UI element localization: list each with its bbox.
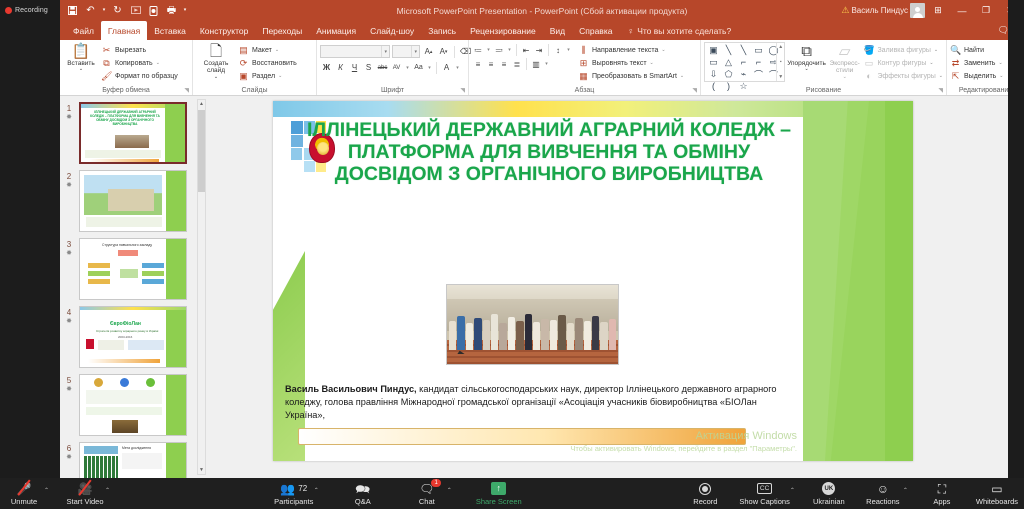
apps-icon: ⛶ [938, 481, 946, 496]
shape-effects-label: Эффекты фигуры [877, 73, 935, 80]
screen-root: Recording ↶ ▾ ↻ 🖶 ▾ Microsoft PowerPoint… [0, 0, 1024, 509]
thumbnail-number: 4 [67, 308, 71, 318]
record-dot-icon [5, 7, 12, 14]
shape-star-icon[interactable]: ☆ [736, 80, 751, 92]
text-direction-caret-icon[interactable]: ⌄ [661, 47, 665, 53]
tab-help[interactable]: Справка [572, 21, 619, 40]
thumbnail-item-2[interactable]: 2 ✸ [60, 167, 208, 235]
reactions-button[interactable]: ☺ Reactions [863, 481, 903, 506]
tab-view[interactable]: Вид [543, 21, 572, 40]
shapes-scroll-up-icon[interactable]: ▲ [778, 44, 783, 50]
section-caret-icon[interactable]: ⌄ [278, 73, 282, 79]
find-label: Найти [964, 47, 984, 54]
thumbnail-item-4[interactable]: 4 ✸ ЄвроФіоЛан Стратегія розвитку аграрн… [60, 303, 208, 371]
shadow-button[interactable]: S [362, 61, 375, 74]
section-label: Раздел [252, 73, 275, 80]
paragraph-label-text: Абзац [575, 87, 595, 94]
photo-crowd [449, 309, 616, 350]
thumbnail-preview-6[interactable]: Мета дослідження [79, 442, 187, 478]
tab-record[interactable]: Запись [421, 21, 463, 40]
restore-button[interactable]: ❐ [975, 1, 997, 20]
thumbs-scroll-thumb[interactable] [198, 110, 205, 192]
paragraph-row-2: ≡ ≡ ≡ ≣ ▥ ▾ [472, 58, 572, 70]
replace-button[interactable]: ⇄ Заменить ⌄ [950, 57, 1004, 69]
layout-icon: ▤ [238, 45, 249, 56]
reset-label: Восстановить [252, 60, 297, 67]
editing-label-text: Редактирование [959, 87, 1012, 94]
font-separator-2 [436, 62, 437, 74]
shape-outline-caret-icon[interactable]: ⌄ [929, 60, 933, 66]
thumbnail-preview-5[interactable] [79, 374, 187, 436]
select-label: Выделить [964, 73, 996, 80]
smartart-icon: ▦ [578, 71, 589, 82]
windows-activation-watermark: Активация Windows Чтобы активировать Win… [570, 430, 797, 453]
paste-icon: 📋 [72, 44, 91, 60]
increase-indent-button[interactable]: ⇥ [533, 44, 545, 56]
shapes-gallery[interactable]: ▣ ╲ ╲ ▭ ◯ ▭ △ ⌐ ⌐ ⇨ ⇩ ⬠ ⌁ ⌒ ⌒ [704, 42, 785, 82]
shrink-font-button[interactable]: A▾ [437, 45, 450, 58]
align-text-label: Выровнять текст [592, 60, 647, 67]
arrange-button[interactable]: ⧉ Упорядочить ⌄ [787, 42, 826, 73]
arrange-caret-icon[interactable]: ⌄ [804, 67, 808, 73]
tab-transitions[interactable]: Переходы [255, 21, 309, 40]
para-separator [516, 44, 517, 56]
bullets-caret-icon[interactable]: ▾ [485, 44, 492, 56]
grow-font-button[interactable]: A▴ [422, 45, 435, 58]
thumbnail-preview-4[interactable]: ЄвроФіоЛан Стратегія розвитку аграрного … [79, 306, 187, 368]
thumbs-scroll-down-icon[interactable]: ▼ [198, 467, 205, 473]
smartart-caret-icon[interactable]: ⌄ [680, 73, 684, 79]
align-right-button[interactable]: ≡ [498, 58, 510, 70]
audio-options-caret-icon[interactable]: ⌃ [44, 487, 49, 494]
share-screen-label: Share Screen [476, 497, 522, 506]
animation-star-icon[interactable]: ✸ [66, 114, 72, 122]
shape-right-brace-icon[interactable]: ) [721, 80, 736, 92]
layout-label: Макет [252, 47, 272, 54]
shape-line-icon[interactable]: ╲ [721, 44, 736, 56]
font-color-button[interactable]: A [440, 61, 453, 74]
unmute-button[interactable]: 🎤 Unmute [4, 481, 44, 506]
find-button[interactable]: 🔍 Найти [950, 44, 1004, 56]
reactions-icon: ☺ [877, 481, 889, 496]
record-button[interactable]: Record [685, 481, 725, 506]
zoom-toolbar-center: 👥72 Participants ⌃ 🗪 Q&A 🗨1 Chat ⌃ ↑ Sha… [110, 481, 685, 506]
copy-label: Копировать [115, 60, 153, 67]
bold-button[interactable]: Ж [320, 61, 333, 74]
font-dialog-launcher[interactable]: ◥ [460, 87, 465, 94]
show-captions-button[interactable]: CC Show Captions [739, 481, 789, 506]
text-direction-label: Направление текста [592, 47, 658, 54]
thumbnail-preview-3[interactable]: Структура навчального закладу [79, 238, 187, 300]
ribbon-group-drawing: ▣ ╲ ╲ ▭ ◯ ▭ △ ⌐ ⌐ ⇨ ⇩ ⬠ ⌁ ⌒ ⌒ [700, 40, 946, 95]
slide-body-bold: Василь Васильович Пиндус, [285, 384, 417, 394]
ribbon-group-paragraph: ≔ ▾ ≕ ▾ ⇤ ⇥ ↕ ▾ ≡ [468, 40, 700, 95]
quick-styles-button[interactable]: ▱ Экспресс-стили ⌄ [828, 42, 862, 81]
character-spacing-caret-icon[interactable]: ▾ [404, 61, 411, 74]
animation-star-icon[interactable]: ✸ [66, 386, 72, 394]
record-circle-icon [699, 481, 711, 496]
tab-file[interactable]: Файл [66, 21, 101, 40]
ribbon-group-clipboard: 📋 Вставить ⌄ ✂ Вырезать ⧉ Копировать ⌄ [60, 40, 192, 95]
decrease-indent-button[interactable]: ⇤ [520, 44, 532, 56]
convert-smartart-button[interactable]: ▦ Преобразовать в SmartArt ⌄ [578, 70, 684, 82]
camera-muted-icon: 🎥 [78, 481, 93, 496]
tab-animations[interactable]: Анимация [309, 21, 363, 40]
ribbon: 📋 Вставить ⌄ ✂ Вырезать ⧉ Копировать ⌄ [60, 40, 1024, 96]
whiteboard-icon: ▭ [991, 481, 1002, 496]
font-name-input[interactable]: ▾ [320, 45, 390, 58]
desktop-background-right [1008, 0, 1024, 478]
font-color-caret-icon[interactable]: ▾ [454, 61, 461, 74]
quick-styles-caret-icon[interactable]: ⌄ [843, 75, 847, 81]
align-text-caret-icon[interactable]: ⌄ [650, 60, 654, 66]
zoom-toolbar-right: Record CC Show Captions ⌃ UK Ukrainian ☺… [685, 481, 1024, 506]
thumbnails-scrollbar[interactable]: ▲ ▼ [197, 99, 206, 475]
reset-button[interactable]: ⟳ Восстановить [238, 57, 297, 69]
shapes-scrollbar[interactable]: ▲ ▪ ▼ [776, 43, 784, 81]
change-case-button[interactable]: Aa [412, 61, 425, 74]
minimize-button[interactable]: — [951, 1, 973, 20]
customize-qat-icon[interactable]: ▾ [181, 2, 189, 19]
shape-fill-icon: 🪣 [863, 45, 874, 56]
current-slide[interactable]: ІЛЛІНЕЦЬКИЙ ДЕРЖАВНИЙ АГРАРНИЙ КОЛЕДЖ – … [273, 101, 913, 461]
apps-button[interactable]: ⛶ Apps [922, 481, 962, 506]
lightbulb-icon: ♀ [627, 26, 634, 36]
thumbs-scroll-up-icon[interactable]: ▲ [198, 101, 205, 107]
search-icon: 🔍 [950, 45, 961, 56]
character-spacing-button[interactable]: AV [390, 61, 403, 74]
chat-caret-icon[interactable]: ⌃ [447, 487, 452, 494]
copy-button[interactable]: ⧉ Копировать ⌄ [101, 57, 178, 69]
thumbnail-item-1[interactable]: 1 ✸ ІЛЛІНЕЦЬКИЙ ДЕРЖАВНИЙ АГРАРНИЙ КОЛЕД… [60, 99, 208, 167]
recording-label: Recording [15, 7, 48, 14]
thumbnail-number: 6 [67, 444, 71, 454]
font-separator [454, 46, 455, 58]
paragraph-row-1: ≔ ▾ ≕ ▾ ⇤ ⇥ ↕ ▾ [472, 44, 572, 56]
whiteboards-label: Whiteboards [976, 497, 1018, 506]
apps-label: Apps [933, 497, 950, 506]
clipboard-dialog-launcher[interactable]: ◥ [184, 87, 189, 94]
whiteboards-button[interactable]: ▭ Whiteboards [976, 481, 1018, 506]
shape-fill-label: Заливка фигуры [877, 47, 930, 54]
start-video-button[interactable]: 🎥 Start Video [65, 481, 105, 506]
reactions-label: Reactions [866, 497, 899, 506]
redo-icon[interactable]: ↻ [109, 2, 126, 19]
animation-star-icon[interactable]: ✸ [66, 182, 72, 190]
thumbnail-preview-2[interactable] [79, 170, 187, 232]
thumbnail-item-6[interactable]: 6 ✸ Мета дослідження [60, 439, 208, 478]
ribbon-group-slides: 🗋 Создать слайд ⌄ ▤ Макет ⌄ ⟳ Восстанови… [192, 40, 316, 95]
tell-me-placeholder: Что вы хотите сделать? [637, 26, 731, 36]
font-size-input[interactable]: ▾ [392, 45, 420, 58]
participants-button[interactable]: 👥72 Participants [274, 481, 314, 506]
animation-star-icon[interactable]: ✸ [66, 318, 72, 326]
select-icon: ⇱ [950, 71, 961, 82]
share-screen-icon: ↑ [491, 481, 506, 496]
qa-bubble-icon: 🗪 [355, 481, 370, 496]
watermark-line-2: Чтобы активировать Windows, перейдите в … [570, 444, 797, 453]
undo-dropdown-icon[interactable]: ▾ [100, 2, 108, 19]
participants-icon: 👥72 [280, 481, 307, 496]
layout-caret-icon[interactable]: ⌄ [275, 47, 279, 53]
record-label: Record [693, 497, 717, 506]
drawing-dialog-launcher[interactable]: ◥ [938, 87, 943, 94]
slide-group-photo[interactable] [446, 284, 619, 365]
unmute-label: Unmute [11, 497, 37, 506]
numbering-button[interactable]: ≕ [493, 44, 505, 56]
format-painter-label: Формат по образцу [115, 73, 178, 80]
columns-button[interactable]: ▥ [530, 58, 542, 70]
slides-group-label: Слайды [196, 85, 313, 95]
reactions-caret-icon[interactable]: ⌃ [903, 487, 908, 494]
cut-label: Вырезать [115, 47, 146, 54]
shape-outline-icon: ▭ [863, 58, 874, 69]
shape-pentagon-icon[interactable]: ⬠ [721, 68, 736, 80]
title-bar: ↶ ▾ ↻ 🖶 ▾ Microsoft PowerPoint Presentat… [60, 0, 1024, 21]
shape-freeform-icon[interactable]: ⌁ [736, 68, 751, 80]
align-center-button[interactable]: ≡ [485, 58, 497, 70]
qa-button[interactable]: 🗪 Q&A [343, 481, 383, 506]
shape-outline-label: Контур фигуры [877, 60, 926, 67]
format-painter-button[interactable]: 🖌 Формат по образцу [101, 70, 178, 82]
new-slide-caret-icon[interactable]: ⌄ [214, 75, 218, 81]
para-separator-3 [526, 58, 527, 70]
thumbnail-number: 1 [67, 104, 71, 114]
new-slide-button[interactable]: 🗋 Создать слайд ⌄ [196, 42, 236, 81]
save-icon[interactable] [64, 2, 81, 19]
quick-styles-label: Экспресс-стили [828, 60, 862, 75]
shape-triangle-icon[interactable]: △ [721, 56, 736, 68]
zoom-toolbar-left: 🎤 Unmute ⌃ 🎥 Start Video ⌃ [0, 481, 110, 506]
text-direction-icon: ⫼ [578, 45, 589, 56]
text-direction-button[interactable]: ⫼ Направление текста ⌄ [578, 44, 684, 56]
smartart-label: Преобразовать в SmartArt [592, 73, 677, 80]
arrange-icon: ⧉ [801, 44, 812, 60]
thumbnail-number: 5 [67, 376, 71, 386]
layout-button[interactable]: ▤ Макет ⌄ [238, 44, 297, 56]
quick-styles-icon: ▱ [839, 44, 851, 60]
print-preview-icon[interactable]: 🖶 [163, 2, 180, 19]
replace-label: Заменить [964, 60, 995, 67]
shape-effects-icon: ◐ [863, 71, 874, 81]
shape-down-arrow-icon[interactable]: ⇩ [706, 68, 721, 80]
start-presentation-icon[interactable] [127, 2, 144, 19]
chat-unread-badge: 1 [431, 479, 440, 487]
shapes-scroll-down-icon[interactable]: ▼ [778, 74, 783, 80]
replace-caret-icon[interactable]: ⌄ [998, 60, 1002, 66]
replace-icon: ⇄ [950, 58, 961, 69]
font-label-text: Шрифт [381, 87, 404, 94]
tell-me-search[interactable]: ♀ Что вы хотите сделать? [619, 21, 731, 40]
columns-caret-icon[interactable]: ▾ [543, 58, 550, 70]
shape-elbow2-icon[interactable]: ⌐ [751, 56, 766, 68]
cut-scissors-icon: ✂ [101, 45, 112, 56]
clipboard-group-label: Буфер обмена ◥ [63, 85, 189, 95]
thumbnail-number: 2 [67, 172, 71, 182]
section-button[interactable]: ▣ Раздел ⌄ [238, 70, 297, 82]
chat-button[interactable]: 🗨1 Chat [407, 481, 447, 506]
clipboard-label-text: Буфер обмена [102, 87, 150, 94]
user-avatar-icon[interactable] [910, 3, 925, 18]
captions-caret-icon[interactable]: ⌃ [790, 487, 795, 494]
paste-caret-icon[interactable]: ⌄ [79, 67, 83, 73]
warning-triangle-icon: ⚠ [841, 5, 849, 16]
shape-left-brace-icon[interactable]: ( [706, 80, 721, 92]
shape-curve-icon[interactable]: ⌒ [751, 68, 766, 80]
participants-caret-icon[interactable]: ⌃ [314, 487, 319, 494]
language-uk-icon: UK [822, 481, 835, 496]
shapes-scroll-thumb[interactable]: ▪ [780, 59, 782, 65]
qa-label: Q&A [355, 497, 371, 506]
animation-star-icon[interactable]: ✸ [66, 454, 72, 462]
tab-insert[interactable]: Вставка [147, 21, 193, 40]
slide-canvas[interactable]: ІЛЛІНЕЦЬКИЙ ДЕРЖАВНИЙ АГРАРНИЙ КОЛЕДЖ – … [208, 96, 1024, 478]
shape-textbox-icon[interactable]: ▣ [706, 44, 721, 56]
start-video-label: Start Video [67, 497, 104, 506]
account-name[interactable]: Василь Пиндус [851, 6, 908, 15]
shape-outline-button[interactable]: ▭ Контур фигуры ⌄ [863, 57, 943, 69]
undo-icon[interactable]: ↶ [82, 2, 99, 19]
tab-home[interactable]: Главная [101, 21, 147, 40]
chat-bubble-icon: 🗨1 [419, 481, 434, 496]
select-caret-icon[interactable]: ⌄ [999, 73, 1003, 79]
thumbnail-item-3[interactable]: 3 ✸ Структура навчального закладу [60, 235, 208, 303]
line-spacing-button[interactable]: ↕ [552, 44, 564, 56]
copy-icon: ⧉ [101, 58, 112, 69]
ribbon-display-options-icon[interactable]: ⊞ [927, 1, 949, 20]
watermark-line-1: Активация Windows [570, 430, 797, 444]
thumbnail-preview-1[interactable]: ІЛЛІНЕЦЬКИЙ ДЕРЖАВНИЙ АГРАРНИЙ КОЛЕДЖ – … [79, 102, 187, 164]
tab-design[interactable]: Конструктор [193, 21, 255, 40]
para-separator-2 [548, 44, 549, 56]
thumbnail-number: 3 [67, 240, 71, 250]
participants-label: Participants [274, 497, 313, 506]
closed-captions-icon: CC [757, 481, 772, 496]
format-painter-icon: 🖌 [101, 71, 112, 82]
microphone-muted-icon: 🎤 [17, 481, 32, 496]
shape-rounded-rect-icon[interactable]: ▭ [706, 56, 721, 68]
font-name-caret-icon[interactable]: ▾ [381, 46, 389, 57]
underline-button[interactable]: Ч [348, 61, 361, 74]
paragraph-group-label: Абзац ◥ [472, 85, 697, 95]
work-area: 1 ✸ ІЛЛІНЕЦЬКИЙ ДЕРЖАВНИЙ АГРАРНИЙ КОЛЕД… [60, 96, 1024, 478]
italic-button[interactable]: К [334, 61, 347, 74]
share-screen-button[interactable]: ↑ Share Screen [476, 481, 522, 506]
shape-effects-button[interactable]: ◐ Эффекты фигуры ⌄ [863, 70, 943, 82]
slide-body-text[interactable]: Василь Васильович Пиндус, кандидат сільс… [285, 383, 779, 422]
chat-label: Chat [419, 497, 435, 506]
quick-access-toolbar: ↶ ▾ ↻ 🖶 ▾ [60, 2, 189, 19]
powerpoint-window: ↶ ▾ ↻ 🖶 ▾ Microsoft PowerPoint Presentat… [60, 0, 1024, 478]
recording-indicator: Recording [0, 0, 60, 21]
touch-mode-icon[interactable] [145, 2, 162, 19]
font-group-label: Шрифт ◥ [320, 85, 465, 95]
copy-caret-icon[interactable]: ⌄ [156, 60, 160, 66]
bullets-button[interactable]: ≔ [472, 44, 484, 56]
shape-line-arrow-icon[interactable]: ╲ [736, 44, 751, 56]
new-slide-icon: 🗋 [210, 44, 222, 60]
select-button[interactable]: ⇱ Выделить ⌄ [950, 70, 1004, 82]
slide-thumbnails-pane[interactable]: 1 ✸ ІЛЛІНЕЦЬКИЙ ДЕРЖАВНИЙ АГРАРНИЙ КОЛЕД… [60, 96, 208, 478]
shape-fill-button[interactable]: 🪣 Заливка фигуры ⌄ [863, 44, 943, 56]
cut-button[interactable]: ✂ Вырезать [101, 44, 178, 56]
tab-slideshow[interactable]: Слайд-шоу [363, 21, 421, 40]
align-left-button[interactable]: ≡ [472, 58, 484, 70]
animation-star-icon[interactable]: ✸ [66, 250, 72, 258]
new-slide-label: Создать слайд [196, 60, 236, 75]
slide-title[interactable]: ІЛЛІНЕЦЬКИЙ ДЕРЖАВНИЙ АГРАРНИЙ КОЛЕДЖ – … [299, 119, 799, 185]
zoom-meeting-toolbar: 🎤 Unmute ⌃ 🎥 Start Video ⌃ 👥72 Participa… [0, 478, 1024, 509]
shape-fill-caret-icon[interactable]: ⌄ [934, 47, 938, 53]
paste-button[interactable]: 📋 Вставить ⌄ [63, 42, 99, 73]
paragraph-dialog-launcher[interactable]: ◥ [692, 87, 697, 94]
drawing-label-text: Рисование [806, 87, 841, 94]
align-text-icon: ⊞ [578, 58, 589, 69]
section-icon: ▣ [238, 71, 249, 82]
slide-right-green-accent [803, 101, 913, 461]
shape-effects-caret-icon[interactable]: ⌄ [939, 73, 943, 79]
align-text-button[interactable]: ⊞ Выровнять текст ⌄ [578, 57, 684, 69]
ribbon-tabs: Файл Главная Вставка Конструктор Переход… [60, 21, 1024, 40]
ribbon-group-font: ▾ ▾ A▴ A▾ ⌫ Ж К Ч S abc AV ▾ [316, 40, 468, 95]
change-case-caret-icon[interactable]: ▾ [426, 61, 433, 74]
strikethrough-button[interactable]: abc [376, 61, 389, 74]
font-size-caret-icon[interactable]: ▾ [411, 46, 419, 57]
numbering-caret-icon[interactable]: ▾ [506, 44, 513, 56]
language-button[interactable]: UK Ukrainian [809, 481, 849, 506]
shape-elbow-icon[interactable]: ⌐ [736, 56, 751, 68]
reset-icon: ⟳ [238, 58, 249, 69]
participants-count: 72 [298, 485, 307, 493]
slides-label-text: Слайды [241, 87, 267, 94]
thumbnail-item-5[interactable]: 5 ✸ [60, 371, 208, 439]
tab-review[interactable]: Рецензирование [463, 21, 543, 40]
show-captions-label: Show Captions [739, 497, 789, 506]
line-spacing-caret-icon[interactable]: ▾ [565, 44, 572, 56]
justify-button[interactable]: ≣ [511, 58, 523, 70]
shape-rectangle-icon[interactable]: ▭ [751, 44, 766, 56]
language-label: Ukrainian [813, 497, 845, 506]
